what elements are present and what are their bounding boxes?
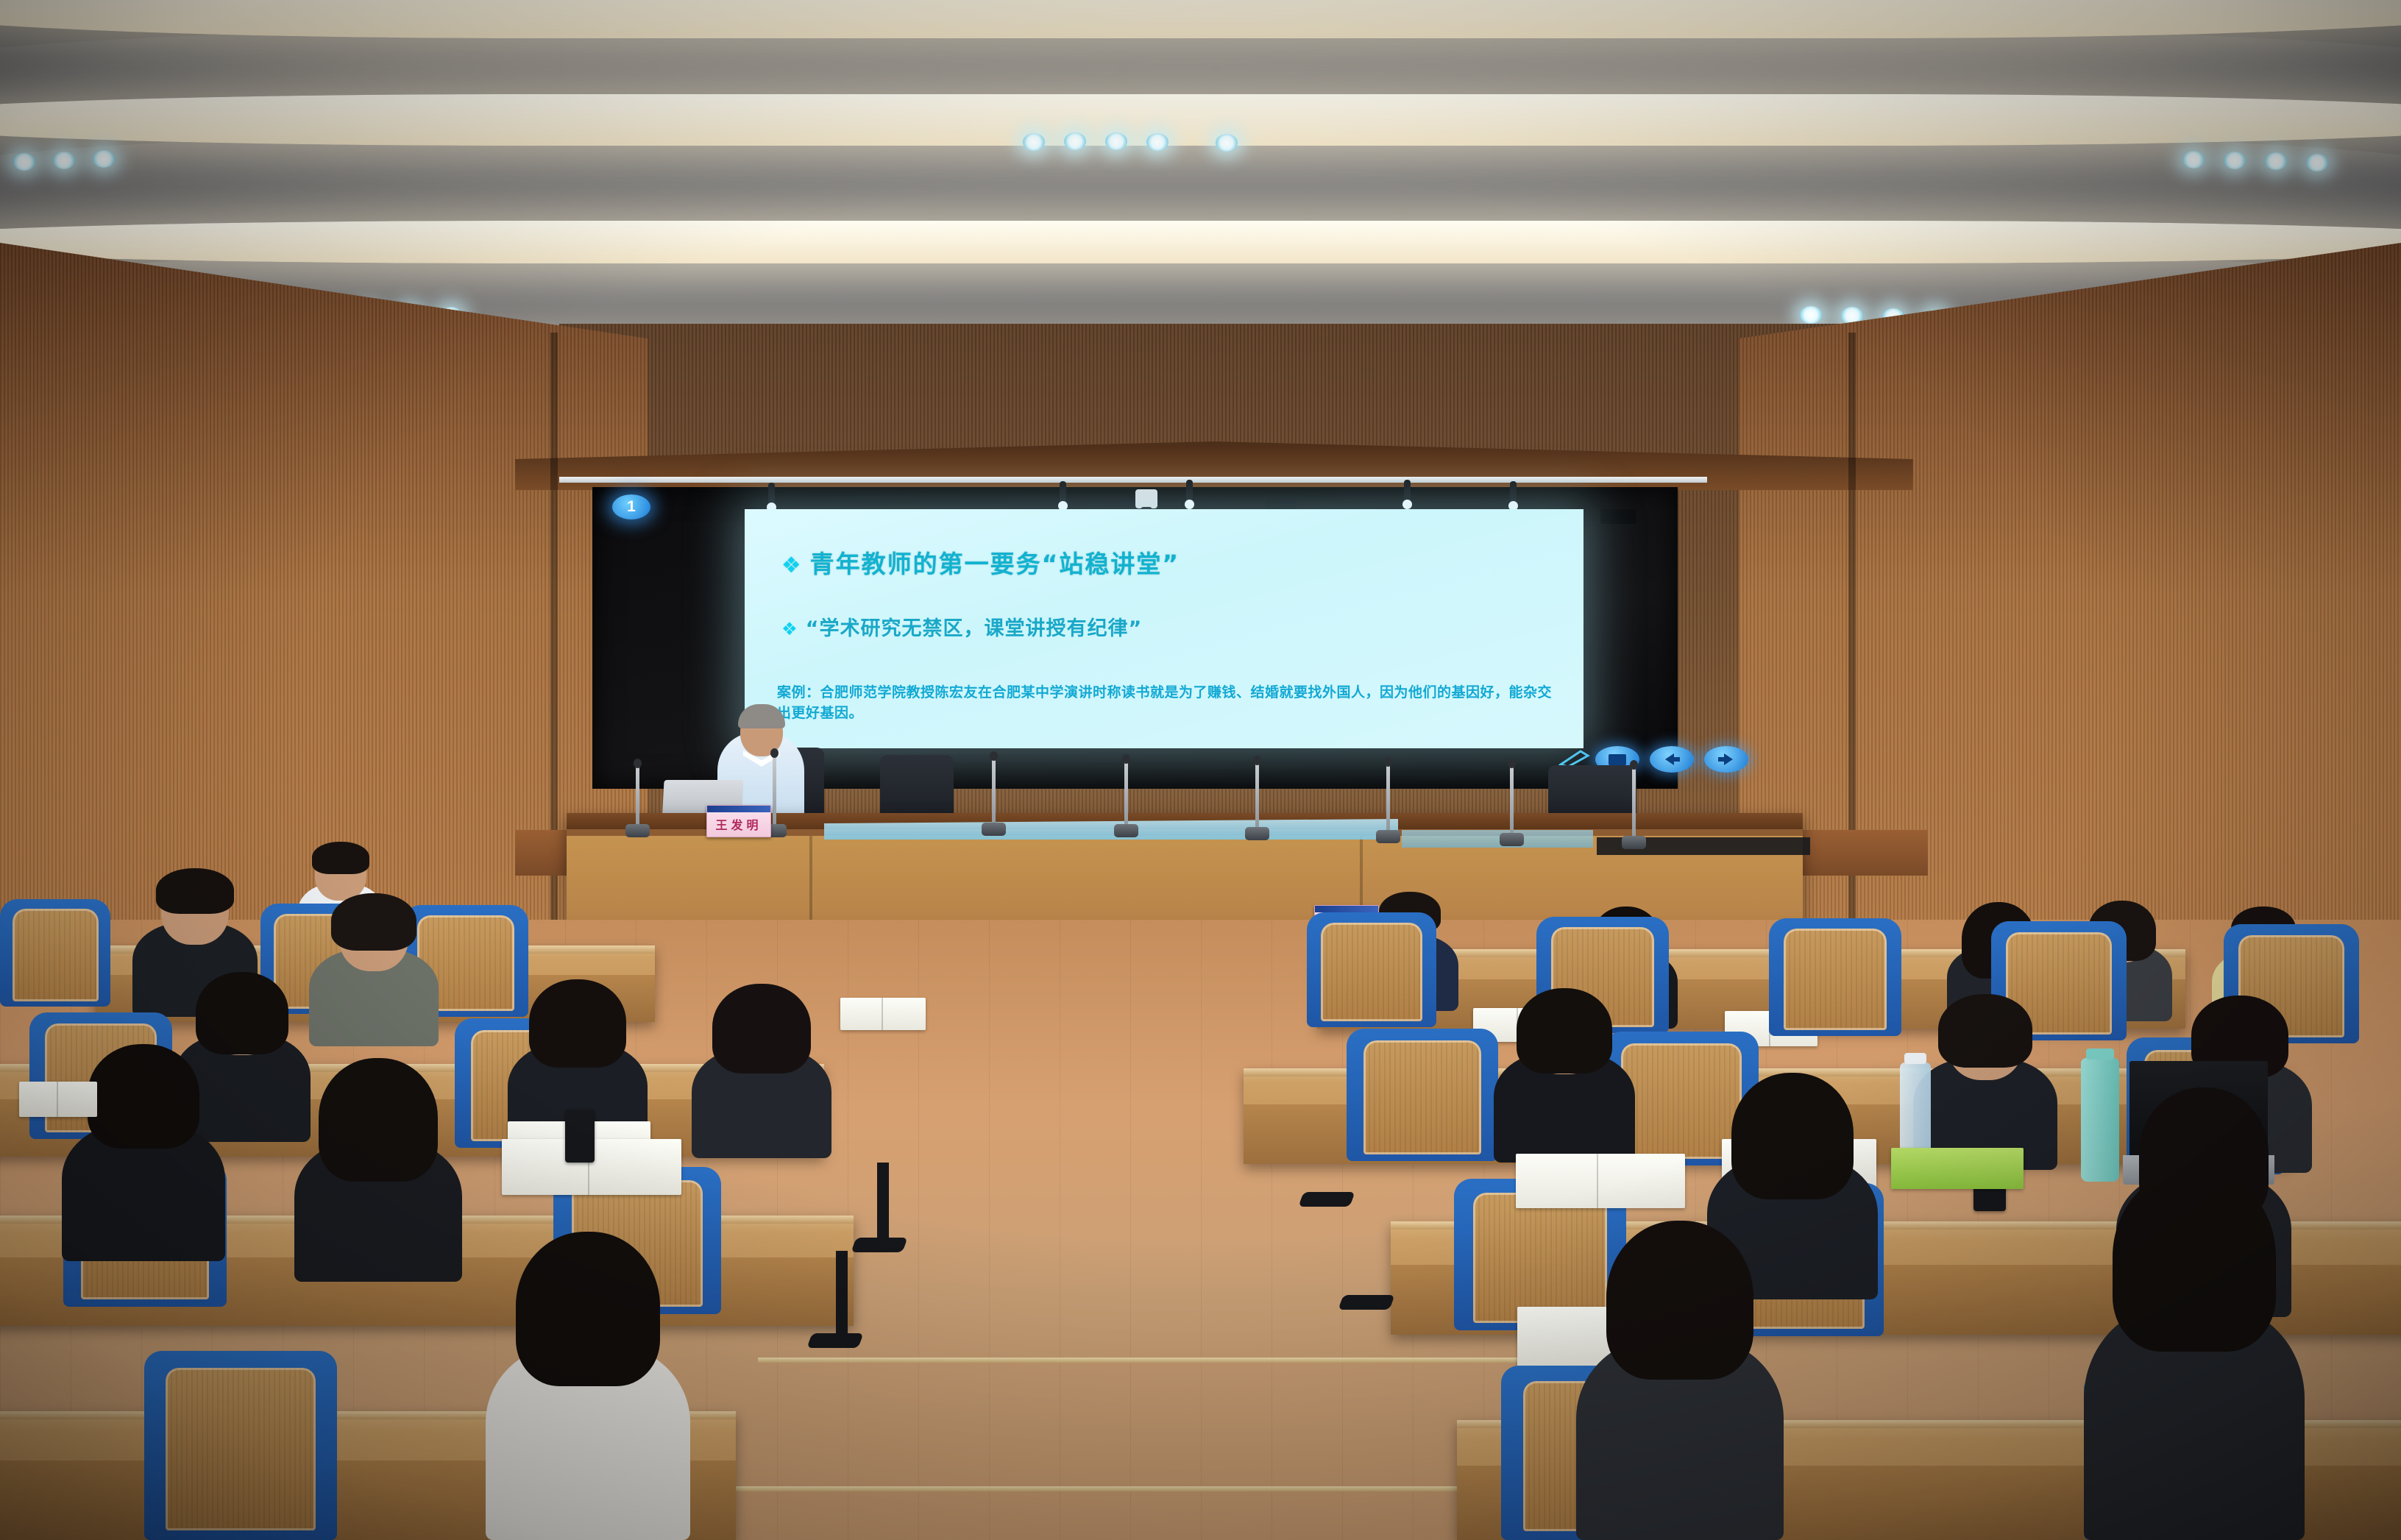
nameplate-speaker: 王发明 — [706, 805, 771, 837]
slide-bullet-icon: ❖ — [781, 553, 803, 578]
ceiling-downlight — [53, 152, 75, 169]
slide-subheading: ❖“学术研究无禁区，课堂讲授有纪律” — [781, 612, 1142, 641]
student-row3-c — [692, 990, 831, 1158]
lecture-chair[interactable] — [0, 899, 110, 1007]
screen-hanger-clip — [1186, 480, 1193, 505]
ceiling-downlight — [13, 153, 35, 171]
lecture-chair[interactable] — [1307, 912, 1436, 1027]
cove-light-strip-3 — [0, 221, 2401, 263]
ceiling-downlight — [1146, 133, 1168, 151]
ceiling-downlight — [2224, 152, 2246, 169]
ceiling-downlight — [1064, 132, 1086, 150]
screen-panel-badge[interactable]: 1 — [612, 494, 650, 519]
ceiling-downlight — [1216, 134, 1238, 152]
lecture-hall-photo: ❖青年教师的第一要务“站稳讲堂” ❖“学术研究无禁区，课堂讲授有纪律” 案例：合… — [0, 0, 2401, 1540]
smartphone-on-desk[interactable] — [565, 1110, 595, 1163]
slide-body-text: 案例：合肥师范学院教授陈宏友在合肥某中学演讲时称读书就是为了赚钱、结婚就要找外国… — [777, 683, 1557, 723]
seat-pedestal-foot — [851, 1238, 907, 1252]
previous-slide-button[interactable] — [1650, 746, 1694, 773]
next-slide-button[interactable] — [1704, 746, 1748, 773]
lecture-chair[interactable] — [1769, 918, 1901, 1036]
notebook-row1 — [840, 998, 926, 1030]
teal-thermos[interactable] — [2081, 1058, 2119, 1182]
student-row2-center — [309, 899, 439, 1046]
screen-hanger-clip — [1404, 480, 1411, 505]
lecture-chair[interactable] — [144, 1351, 337, 1540]
cove-light-strip-1 — [0, 0, 2401, 38]
ceiling-downlight — [2306, 154, 2328, 171]
gooseneck-microphone — [636, 765, 639, 827]
ceiling-sensor-box — [1600, 509, 1636, 524]
seat-pedestal-foot — [1338, 1295, 1394, 1310]
student-row3-e — [1913, 1001, 2057, 1170]
lecture-chair[interactable] — [1347, 1029, 1498, 1161]
projector-camera-mount — [1135, 489, 1157, 508]
ceiling-downlight — [2265, 152, 2287, 170]
ceiling-downlight — [93, 150, 115, 168]
student-row3-d — [1494, 995, 1635, 1163]
gooseneck-microphone — [992, 758, 996, 826]
podium-glass-surface — [1402, 830, 1593, 848]
ceiling-downlight — [1023, 133, 1045, 151]
cove-light-strip-2 — [0, 94, 2401, 146]
ceiling-downlight — [1800, 306, 1822, 324]
screen-hanger-clip — [1060, 481, 1066, 506]
ceiling-downlight — [1105, 132, 1127, 150]
slide-heading: ❖青年教师的第一要务“站稳讲堂” — [781, 544, 1180, 580]
notebook-row5 — [1516, 1154, 1685, 1208]
screen-hanger-clip — [1510, 481, 1517, 506]
gooseneck-microphone — [1255, 762, 1259, 830]
seat-pedestal-foot — [1298, 1192, 1355, 1207]
projection-screen: ❖青年教师的第一要务“站稳讲堂” ❖“学术研究无禁区，课堂讲授有纪律” 案例：合… — [745, 509, 1583, 748]
gooseneck-microphone — [1510, 765, 1514, 836]
ceiling-downlight — [2182, 151, 2205, 168]
notebook-row4 — [19, 1082, 97, 1117]
screen-hanger-clip — [768, 483, 775, 508]
seat-pedestal-foot — [806, 1333, 863, 1348]
step-nosing-strip — [758, 1358, 1634, 1363]
screen-hanging-track — [559, 477, 1707, 483]
seat-pedestal — [877, 1163, 889, 1243]
seat-pedestal — [836, 1251, 848, 1339]
slide-bullet-icon: ❖ — [781, 618, 798, 639]
gooseneck-microphone — [773, 755, 776, 827]
green-folder[interactable] — [1891, 1148, 2024, 1189]
student-row5-a — [486, 1243, 690, 1540]
student-row4-b — [294, 1067, 462, 1282]
gooseneck-microphone — [1632, 767, 1636, 839]
gooseneck-microphone — [1124, 761, 1128, 827]
gooseneck-microphone — [1386, 764, 1390, 833]
student-row5-b — [1576, 1233, 1784, 1540]
right-wall-panelling — [1739, 243, 2401, 1023]
student-row5-c — [2084, 1183, 2305, 1540]
